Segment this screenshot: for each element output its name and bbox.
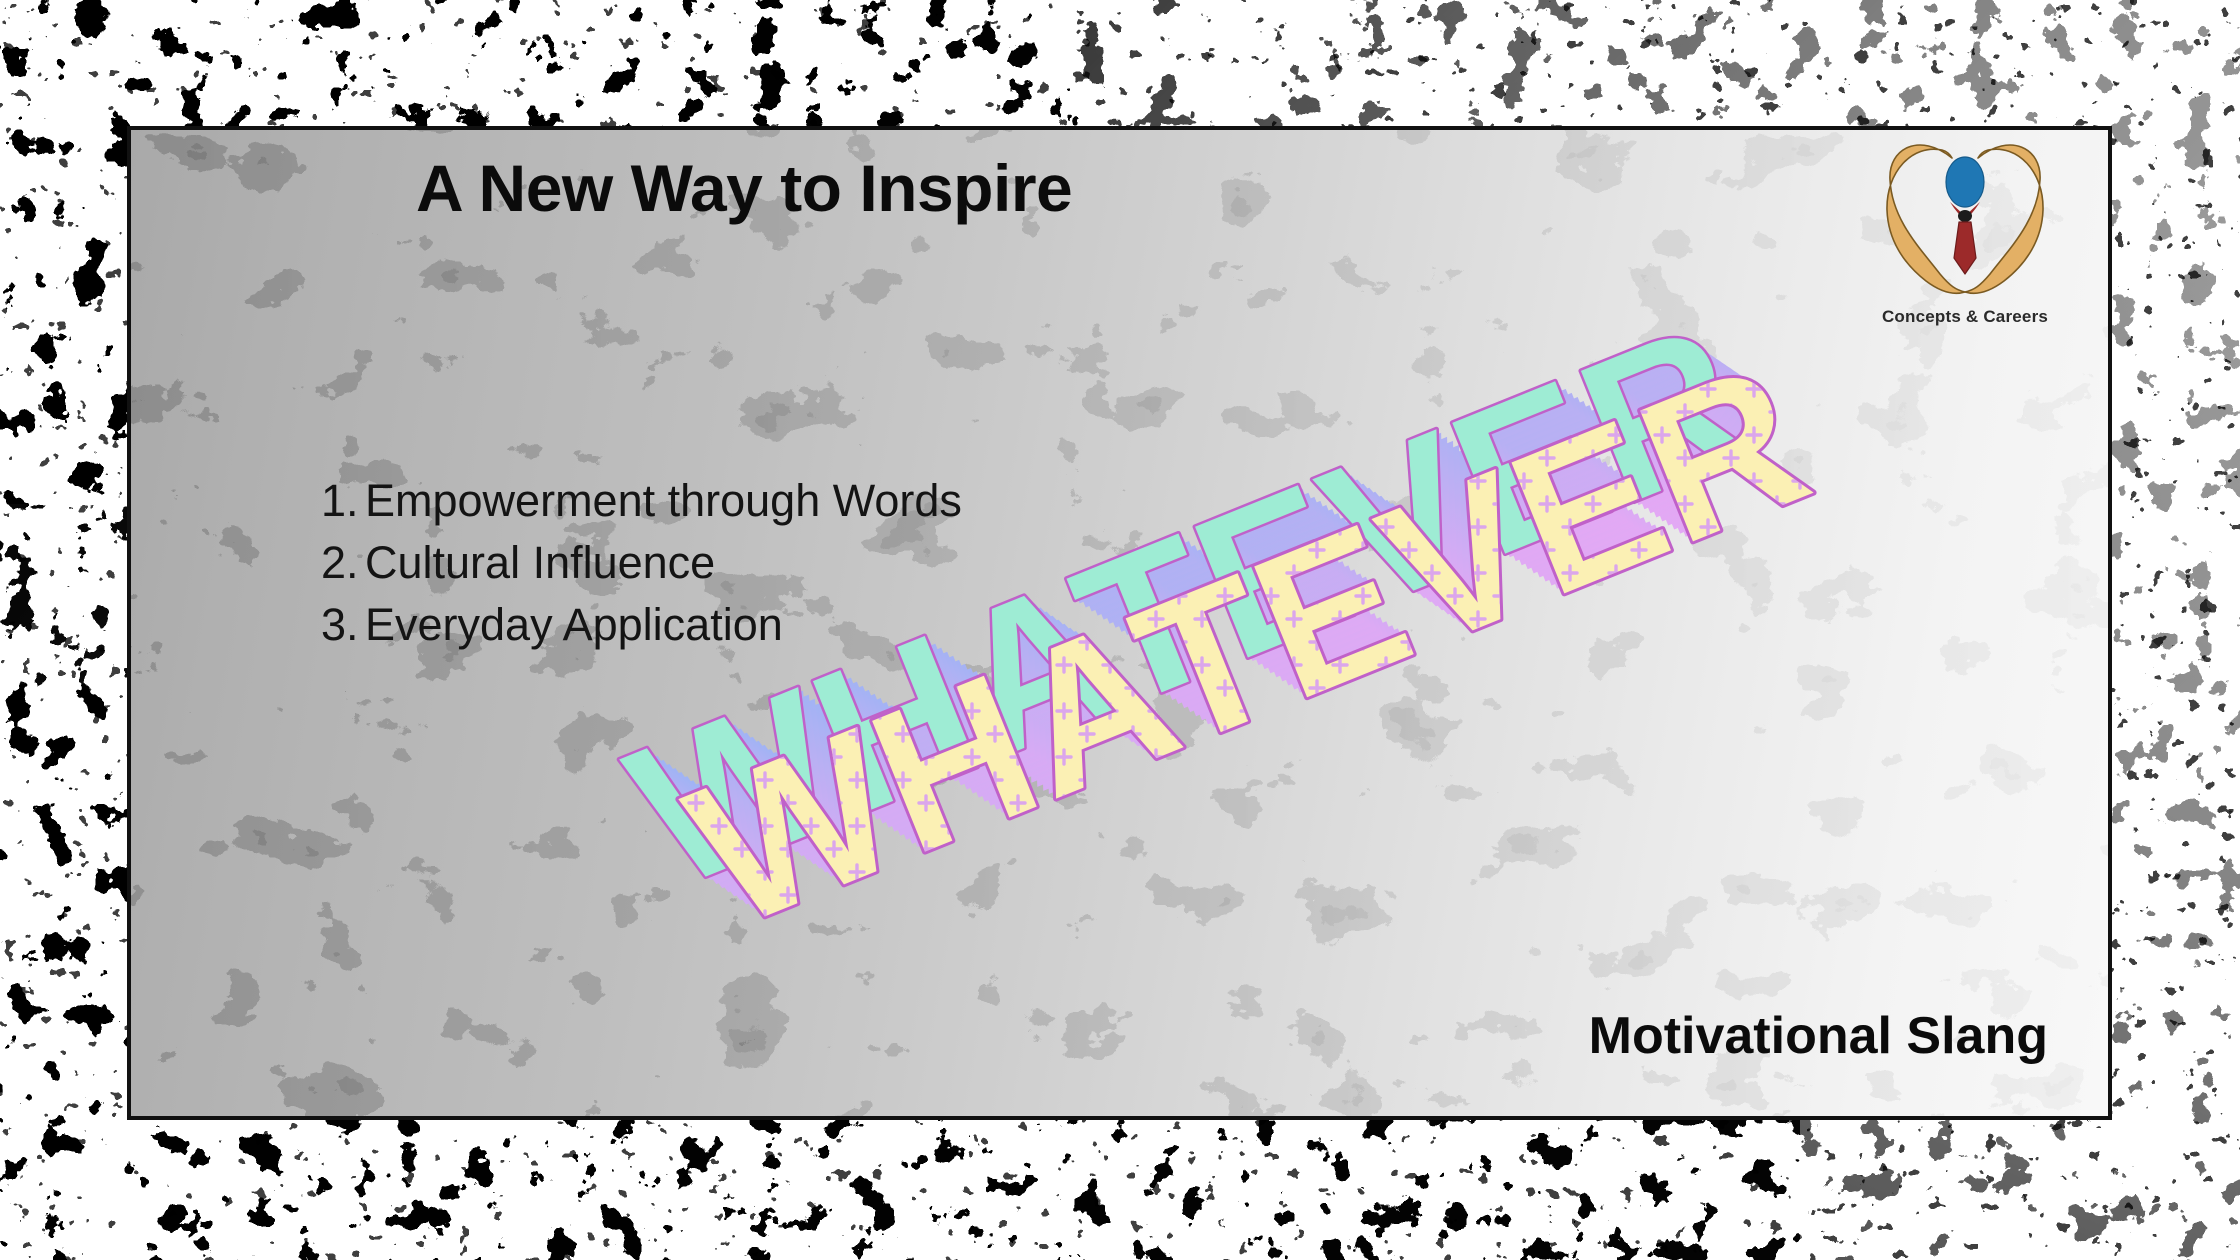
concepts-and-careers-logo-icon [1880,136,2050,311]
logo-head-shape [1946,157,1984,207]
list-item: 3. Everyday Application [321,594,962,656]
list-item-label: Cultural Influence [365,532,715,594]
slide-card: A New Way to Inspire 1. Empowerment thro… [127,126,2112,1120]
list-item-label: Everyday Application [365,594,783,656]
page-title: A New Way to Inspire [416,150,1072,226]
list-item-number: 3. [321,594,365,656]
numbered-list: 1. Empowerment through Words 2. Cultural… [321,470,962,656]
list-item: 1. Empowerment through Words [321,470,962,532]
list-item-number: 1. [321,470,365,532]
list-item-number: 2. [321,532,365,594]
logo-necktie-shape [1954,222,1976,274]
brand-logo: Concepts & Careers [1870,126,2060,356]
list-item: 2. Cultural Influence [321,532,962,594]
list-item-label: Empowerment through Words [365,470,962,532]
logo-wordmark: Concepts & Careers [1870,307,2060,327]
slide-subtitle-label: Motivational Slang [1589,1006,2048,1066]
